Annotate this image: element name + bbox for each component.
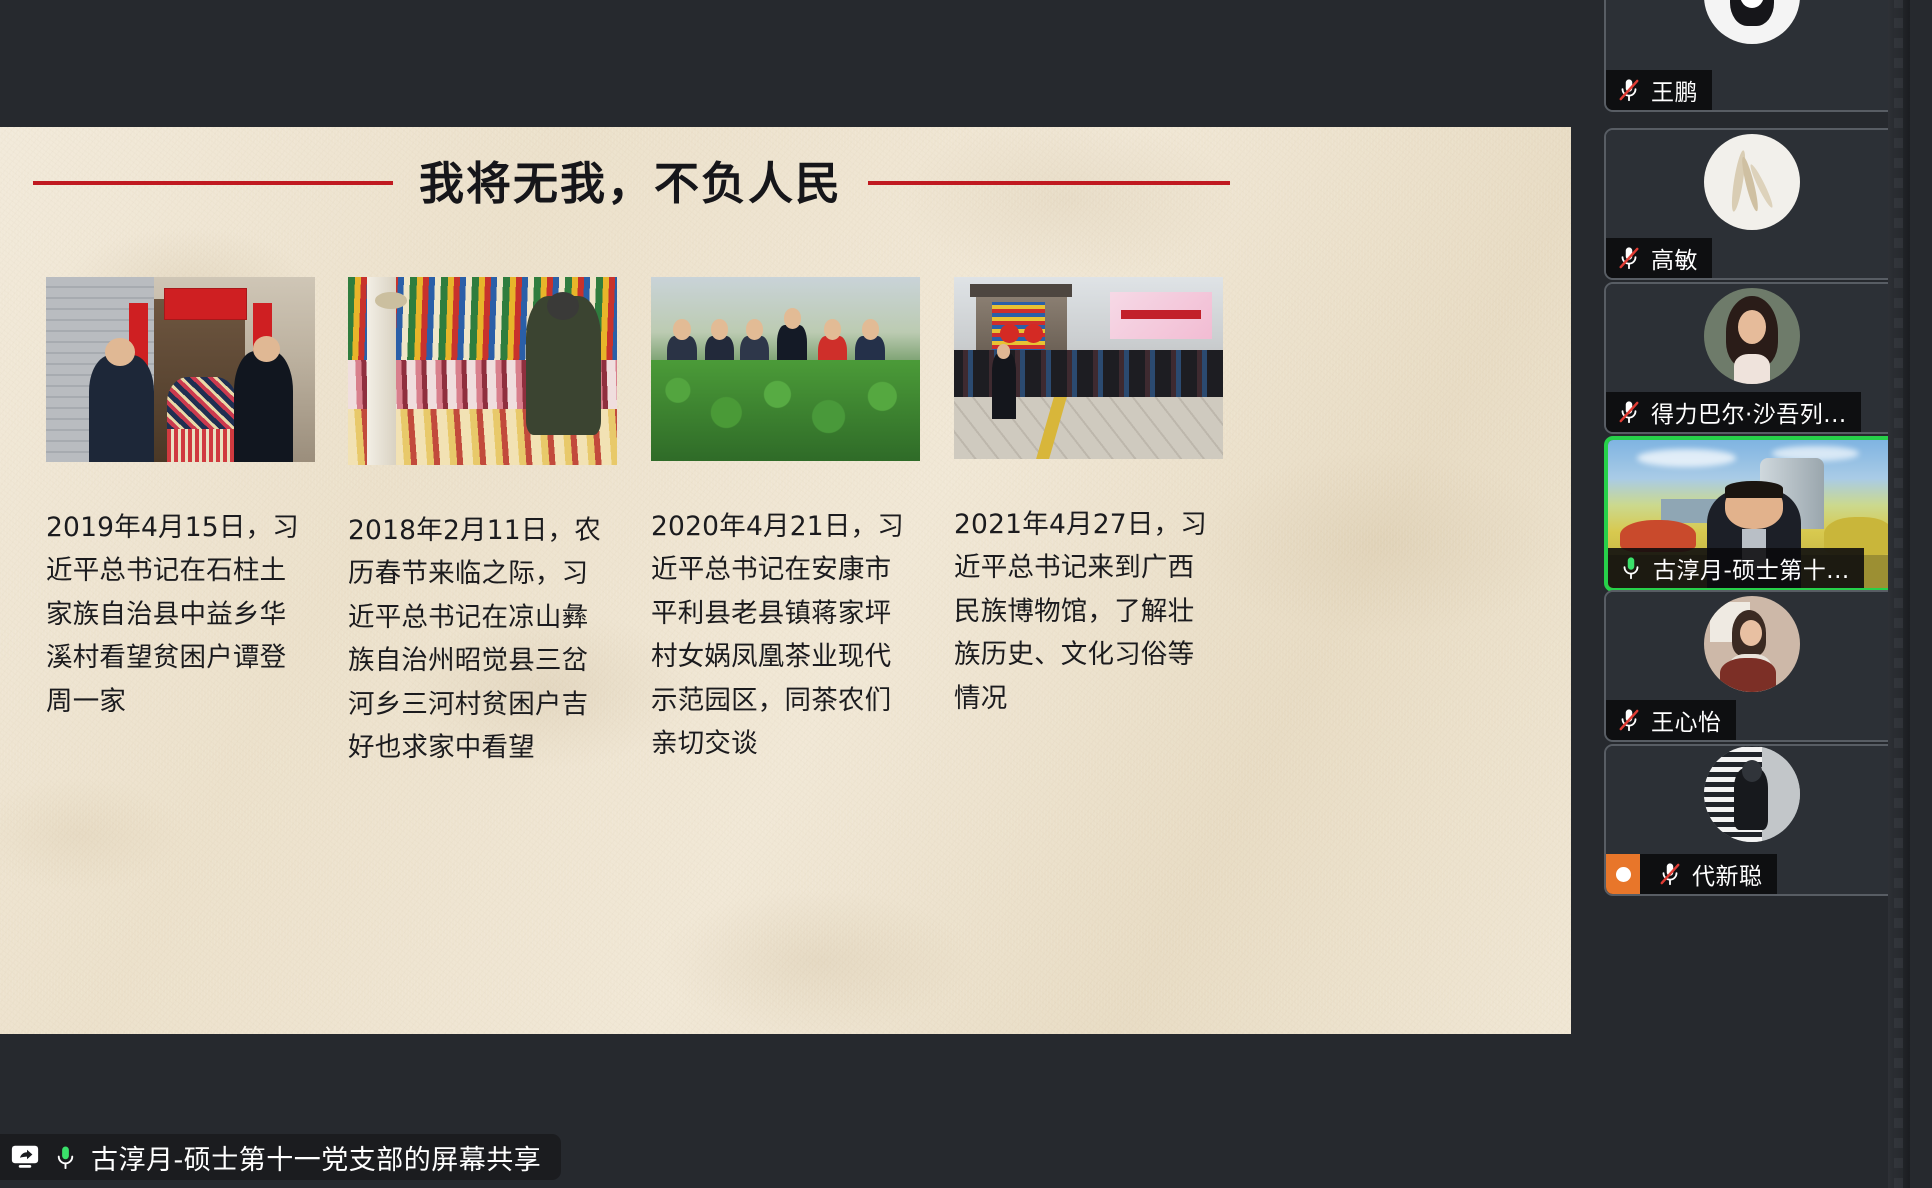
participant-name: 王鹏 [1651, 73, 1698, 107]
avatar-wang-xinyi [1704, 596, 1800, 692]
microphone-muted-icon [1616, 399, 1642, 425]
participants-rail[interactable]: 王鹏 高敏 [1590, 0, 1910, 1188]
microphone-muted-icon [1616, 245, 1642, 271]
participant-namebar: 高敏 [1606, 238, 1712, 278]
share-banner-label: 古淳月-硕士第十一党支部的屏幕共享 [91, 1138, 541, 1177]
participant-tile-wang-peng[interactable]: 王鹏 [1604, 0, 1900, 112]
participant-name: 古淳月-硕士第十... [1653, 551, 1850, 585]
photo-xi-at-guangxi-ethnic-museum [954, 277, 1223, 459]
avatar-dai-xincong [1704, 746, 1800, 842]
slide-column-3: 2020年4月21日，习近平总书记在安康市平利县老县镇蒋家坪村女娲凤凰茶业现代示… [651, 277, 953, 766]
microphone-muted-icon [1616, 707, 1642, 733]
photo-xi-at-tea-plantation [651, 277, 920, 461]
screen-share-icon [10, 1142, 40, 1172]
microphone-muted-icon [1657, 861, 1683, 887]
participant-tile-gao-min[interactable]: 高敏 [1604, 128, 1900, 280]
recording-dot-icon [1606, 854, 1640, 894]
participant-namebar: 得力巴尔·沙吾列... [1606, 392, 1861, 432]
participant-namebar: 王心怡 [1606, 700, 1736, 740]
participant-tile-dai-xincong[interactable]: 代新聪 [1604, 744, 1900, 896]
participant-tile-deliba-er[interactable]: 得力巴尔·沙吾列... [1604, 282, 1900, 434]
avatar-gao-min [1704, 134, 1800, 230]
slide-column-2: 2018年2月11日，农历春节来临之际，习近平总书记在凉山彝族自治州昭觉县三岔河… [348, 277, 650, 770]
screen-share-banner[interactable]: 古淳月-硕士第十一党支部的屏幕共享 [0, 1134, 561, 1180]
slide-caption-2: 2018年2月11日，农历春节来临之际，习近平总书记在凉山彝族自治州昭觉县三岔河… [348, 509, 606, 770]
slide-column-1: 2019年4月15日，习近平总书记在石柱土家族自治县中益乡华溪村看望贫困户谭登周… [46, 277, 348, 723]
participant-namebar: 王鹏 [1606, 70, 1712, 110]
slide-caption-4: 2021年4月27日，习近平总书记来到广西民族博物馆，了解壮族历史、文化习俗等情… [954, 503, 1212, 720]
photo-xi-visiting-yi-ethnic-home [348, 277, 617, 465]
microphone-on-icon [52, 1144, 79, 1171]
participant-tile-gu-chunyue[interactable]: 古淳月-硕士第十... [1604, 436, 1904, 592]
microphone-on-icon [1618, 555, 1644, 581]
microphone-muted-icon [1616, 77, 1642, 103]
participant-tile-wang-xinyi[interactable]: 王心怡 [1604, 590, 1900, 742]
slide-columns: 2019年4月15日，习近平总书记在石柱土家族自治县中益乡华溪村看望贫困户谭登周… [0, 127, 1571, 1034]
participant-name: 高敏 [1651, 241, 1698, 275]
slide-column-4: 2021年4月27日，习近平总书记来到广西民族博物馆，了解壮族历史、文化习俗等情… [954, 277, 1256, 720]
photo-xi-visiting-rural-household [46, 277, 315, 462]
banner-backing [0, 1180, 1571, 1188]
presentation-slide[interactable]: 我将无我，不负人民 [0, 127, 1571, 1034]
slide-caption-1: 2019年4月15日，习近平总书记在石柱土家族自治县中益乡华溪村看望贫困户谭登周… [46, 506, 304, 723]
shared-screen-region[interactable]: 我将无我，不负人民 [0, 0, 1571, 1188]
slide-caption-3: 2020年4月21日，习近平总书记在安康市平利县老县镇蒋家坪村女娲凤凰茶业现代示… [651, 505, 909, 766]
participant-name: 代新聪 [1692, 857, 1763, 891]
participant-namebar: 古淳月-硕士第十... [1608, 548, 1864, 588]
participant-name: 王心怡 [1651, 703, 1722, 737]
meeting-window: 我将无我，不负人民 [0, 0, 1932, 1188]
participant-name: 得力巴尔·沙吾列... [1651, 395, 1847, 429]
avatar-deliba-er-shawulie [1704, 288, 1800, 384]
participant-namebar: 代新聪 [1606, 854, 1777, 894]
rail-scrollbar[interactable] [1888, 0, 1910, 1188]
